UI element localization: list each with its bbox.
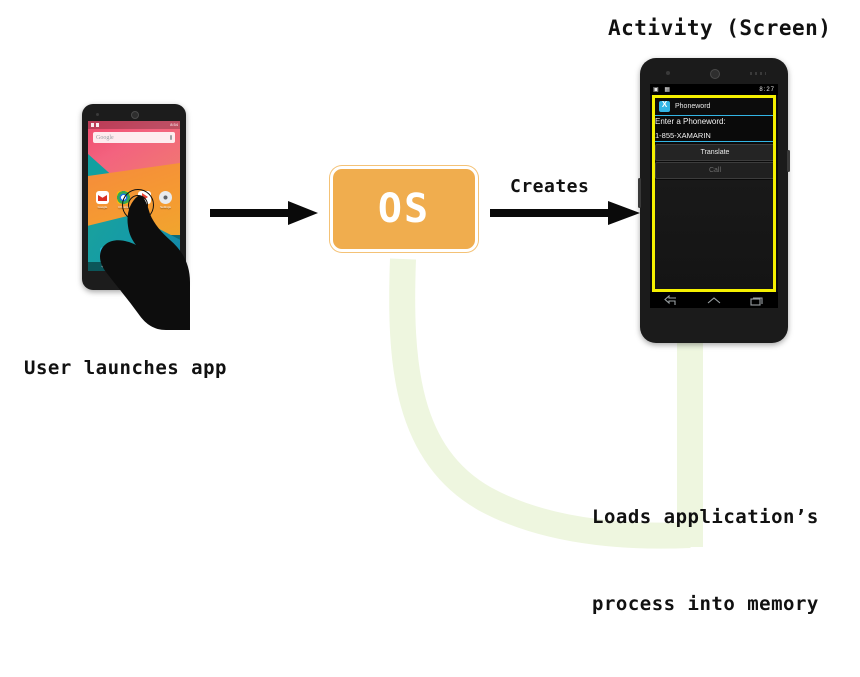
front-camera-icon (131, 111, 139, 119)
caption-loads-line2: process into memory (592, 590, 819, 619)
page-title: Activity (Screen) (608, 16, 831, 40)
sensor-icon (96, 113, 99, 116)
activity-screen: ▣ ▦ 8:27 Phoneword Enter a Phoneword: 1-… (650, 84, 778, 308)
arrow-os-to-activity (490, 200, 640, 226)
google-search-bar[interactable]: Google (93, 132, 175, 143)
status-bar: 8:54 (88, 121, 180, 129)
back-icon[interactable] (664, 295, 678, 306)
os-box: OS (330, 166, 478, 252)
activity-phone: ▣ ▦ 8:27 Phoneword Enter a Phoneword: 1-… (640, 58, 788, 343)
power-button[interactable] (787, 150, 790, 172)
front-camera-icon (710, 69, 720, 79)
recents-icon[interactable] (750, 295, 764, 306)
status-bar: ▣ ▦ 8:27 (650, 84, 778, 95)
diagram-canvas: Activity (Screen) 8:54 Google (0, 0, 860, 557)
caption-user-launches-app: User launches app (24, 357, 227, 379)
navigation-bar (650, 292, 778, 308)
status-time: 8:54 (170, 122, 178, 127)
os-label: OS (378, 186, 430, 232)
hand-pointer-icon (96, 190, 190, 330)
mic-icon[interactable] (170, 135, 172, 140)
earpiece-icon (750, 72, 766, 75)
sensor-icon (666, 71, 670, 75)
status-time: 8:27 (759, 87, 775, 93)
status-left-icons: ▣ ▦ (653, 86, 672, 93)
volume-button[interactable] (638, 178, 641, 208)
search-placeholder: Google (96, 135, 114, 141)
caption-loads-process: Loads application’s process into memory (592, 445, 819, 677)
home-icon[interactable] (707, 295, 721, 306)
caption-loads-line1: Loads application’s (592, 503, 819, 532)
arrow-phone-to-os (210, 200, 318, 226)
arrow-label-creates: Creates (510, 176, 589, 197)
activity-highlight-border (652, 95, 776, 292)
